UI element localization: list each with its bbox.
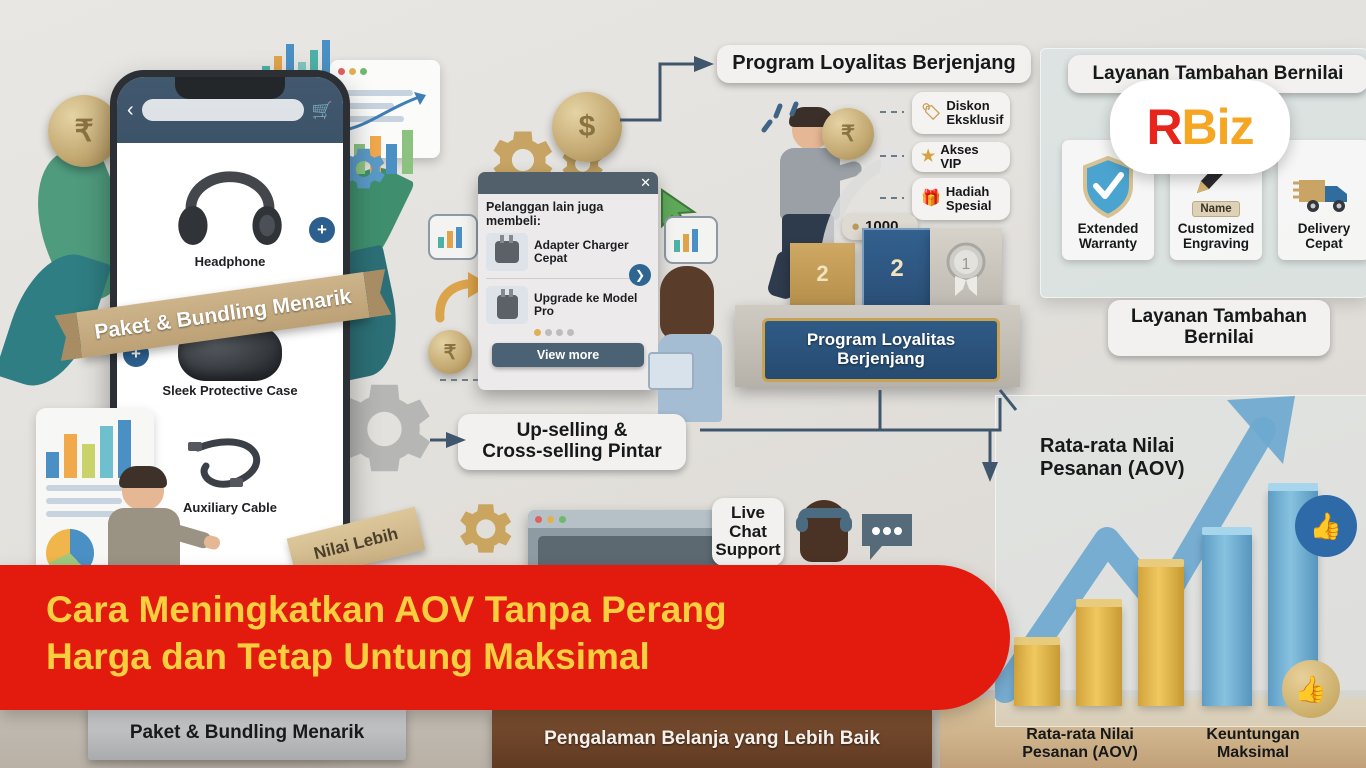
infographic-canvas: ₹ — [0, 0, 1366, 768]
plinth-experience: Pengalaman Belanja yang Lebih Baik — [492, 710, 932, 768]
plinth-label: Pengalaman Belanja yang Lebih Baik — [544, 728, 880, 750]
banner-line2: Harga dan Tetap Untung Maksimal — [46, 633, 946, 680]
plinth-label: Paket & Bundling Menarik — [130, 722, 364, 744]
plinth-bundling: Paket & Bundling Menarik — [88, 706, 406, 760]
title-banner-text: Cara Meningkatkan AOV Tanpa Perang Harga… — [46, 586, 946, 681]
banner-line1: Cara Meningkatkan AOV Tanpa Perang — [46, 586, 946, 633]
